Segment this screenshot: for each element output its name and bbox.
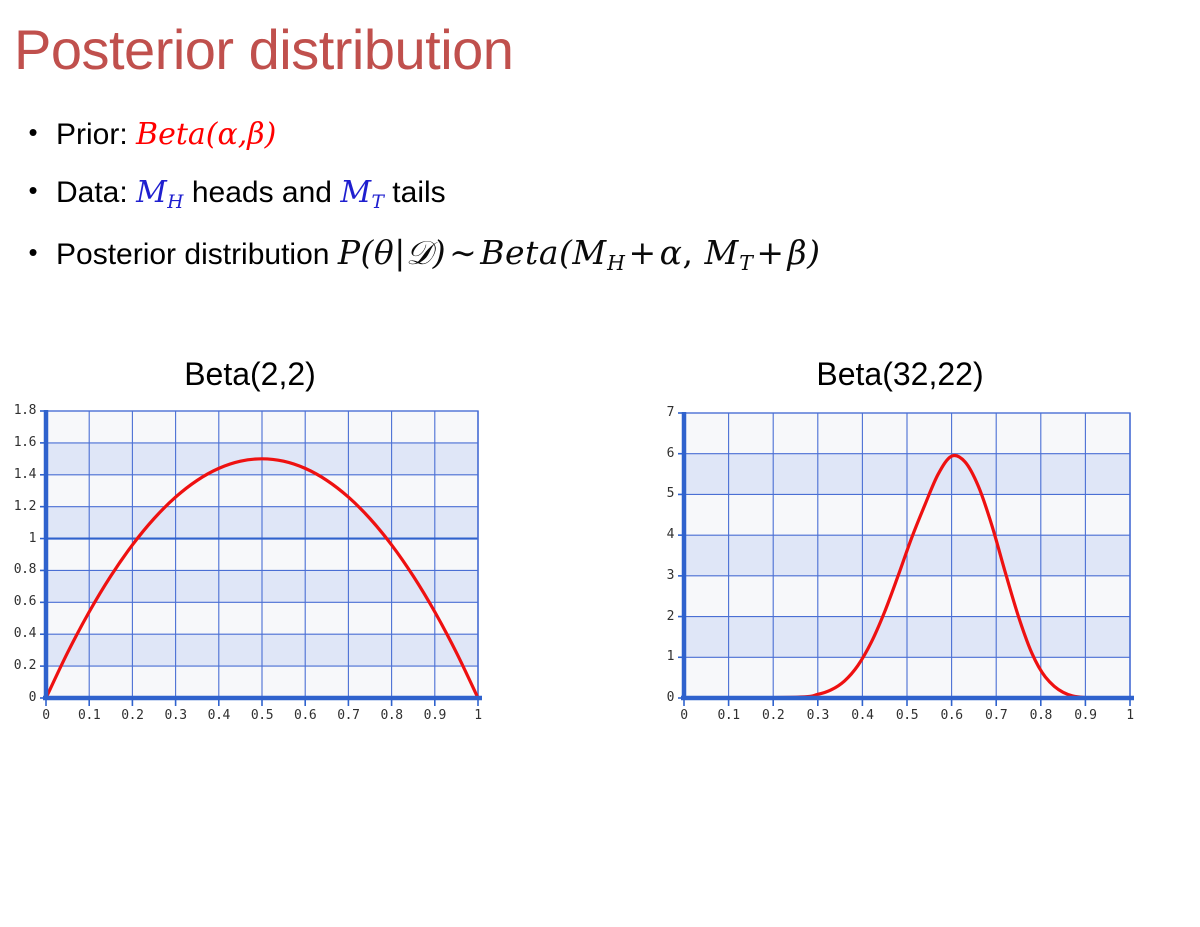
y-tick-label: 1.6 bbox=[0, 435, 36, 450]
y-tick-label: 0.4 bbox=[0, 626, 36, 641]
bullet-item-data: • Data: MH heads and MT tails bbox=[10, 176, 1190, 222]
formula-alpha: α bbox=[660, 233, 683, 272]
formula-close-paren-2: ) bbox=[807, 233, 820, 272]
formula-dataset-symbol: 𝒟 bbox=[406, 233, 433, 272]
x-tick-label: 0.2 bbox=[749, 708, 797, 723]
formula-comma: , bbox=[682, 233, 693, 272]
bullet-marker-icon: • bbox=[10, 177, 56, 203]
bullet-label-posterior: Posterior distribution bbox=[56, 238, 329, 271]
figure-beta-2-2: Beta(2,2) 00.20.40.60.811.21.41.61.8 00.… bbox=[0, 358, 520, 708]
x-tick-label: 1 bbox=[1106, 708, 1154, 723]
formula-theta: θ bbox=[374, 233, 394, 272]
y-tick-label: 0 bbox=[640, 690, 674, 705]
y-tick-label: 3 bbox=[640, 568, 674, 583]
bullet-text-posterior: Posterior distribution P(θ|𝒟)∼Beta(MH+α,… bbox=[56, 234, 821, 276]
x-tick-label: 0.6 bbox=[928, 708, 976, 723]
y-tick-label: 5 bbox=[640, 486, 674, 501]
bullet-text-data: Data: MH heads and MT tails bbox=[56, 176, 446, 213]
y-tick-label: 6 bbox=[640, 446, 674, 461]
y-tick-label: 1.2 bbox=[0, 499, 36, 514]
formula-beta-symbol: β bbox=[788, 233, 808, 272]
posterior-formula: P(θ|𝒟)∼Beta(MH+α, MT+β) bbox=[338, 233, 821, 272]
formula-given-bar: | bbox=[394, 233, 406, 272]
x-tick-label: 0.6 bbox=[281, 708, 329, 723]
formula-mt-subscript: T bbox=[739, 251, 754, 275]
data-mh-symbol: MH bbox=[136, 175, 183, 210]
x-tick-label: 0.7 bbox=[324, 708, 372, 723]
prior-beta: Beta( bbox=[136, 117, 217, 152]
data-mt-symbol: MT bbox=[340, 175, 384, 210]
bullet-text-prior: Prior: Beta(α,β) bbox=[56, 118, 276, 153]
formula-plus-1: + bbox=[626, 233, 660, 272]
bullet-item-posterior: • Posterior distribution P(θ|𝒟)∼Beta(MH+… bbox=[10, 234, 1190, 280]
x-tick-label: 0.3 bbox=[152, 708, 200, 723]
x-tick-label: 0.5 bbox=[238, 708, 286, 723]
formula-mh-subscript: H bbox=[607, 251, 626, 275]
data-mt-subscript: T bbox=[371, 192, 384, 213]
x-tick-label: 0.8 bbox=[368, 708, 416, 723]
prior-beta-symbol: β bbox=[247, 117, 264, 152]
data-mh-subscript: H bbox=[167, 192, 184, 213]
x-tick-label: 0.1 bbox=[705, 708, 753, 723]
bullet-marker-icon: • bbox=[10, 239, 56, 265]
prior-math: Beta(α,β) bbox=[136, 117, 276, 152]
page-title: Posterior distribution bbox=[14, 22, 513, 78]
chart-beta-2-2: 00.20.40.60.811.21.41.61.8 00.10.20.30.4… bbox=[0, 402, 520, 708]
chart-beta-32-22: 01234567 00.10.20.30.40.50.60.70.80.91 bbox=[640, 402, 1160, 708]
bullet-label-data: Data: bbox=[56, 176, 128, 209]
y-tick-label: 1.4 bbox=[0, 467, 36, 482]
y-tick-label: 0.6 bbox=[0, 594, 36, 609]
formula-mh: M bbox=[572, 233, 606, 272]
x-tick-label: 0.5 bbox=[883, 708, 931, 723]
y-tick-label: 2 bbox=[640, 609, 674, 624]
y-tick-label: 0.8 bbox=[0, 562, 36, 577]
figure-title-beta-2-2: Beta(2,2) bbox=[0, 358, 600, 390]
y-tick-label: 1.8 bbox=[0, 403, 36, 418]
formula-mt: M bbox=[704, 233, 738, 272]
y-tick-label: 0.2 bbox=[0, 658, 36, 673]
x-tick-label: 0.4 bbox=[195, 708, 243, 723]
x-tick-label: 0.7 bbox=[972, 708, 1020, 723]
figure-title-beta-32-22: Beta(32,22) bbox=[550, 358, 1200, 390]
x-tick-label: 0.9 bbox=[1061, 708, 1109, 723]
prior-comma: , bbox=[238, 117, 248, 152]
chart-svg-beta-2-2 bbox=[0, 402, 520, 708]
x-tick-label: 0 bbox=[660, 708, 708, 723]
data-mt-letter: M bbox=[340, 175, 371, 210]
x-tick-label: 0.8 bbox=[1017, 708, 1065, 723]
x-tick-label: 0 bbox=[22, 708, 70, 723]
x-tick-label: 0.3 bbox=[794, 708, 842, 723]
chart-svg-beta-32-22 bbox=[640, 402, 1160, 708]
y-tick-label: 7 bbox=[640, 405, 674, 420]
formula-p-open: P( bbox=[338, 233, 374, 272]
prior-close-paren: ) bbox=[265, 117, 277, 152]
x-tick-label: 0.2 bbox=[108, 708, 156, 723]
y-tick-label: 0 bbox=[0, 690, 36, 705]
prior-alpha: α bbox=[217, 117, 237, 152]
x-tick-label: 0.4 bbox=[838, 708, 886, 723]
formula-beta: Beta( bbox=[480, 233, 572, 272]
y-tick-label: 1 bbox=[640, 649, 674, 664]
formula-sim-operator: ∼ bbox=[446, 233, 480, 272]
x-tick-label: 1 bbox=[454, 708, 502, 723]
bullet-list: • Prior: Beta(α,β) • Data: MH heads and … bbox=[10, 118, 1190, 292]
bullet-marker-icon: • bbox=[10, 119, 56, 145]
data-tail-text: tails bbox=[392, 176, 445, 209]
formula-plus-2: + bbox=[753, 233, 787, 272]
formula-close-paren-1: ) bbox=[433, 233, 446, 272]
figure-beta-32-22: Beta(32,22) 01234567 00.10.20.30.40.50.6… bbox=[640, 358, 1160, 708]
data-mh-letter: M bbox=[136, 175, 167, 210]
data-middle-text: heads and bbox=[192, 176, 332, 209]
x-tick-label: 0.1 bbox=[65, 708, 113, 723]
x-tick-label: 0.9 bbox=[411, 708, 459, 723]
y-tick-label: 1 bbox=[0, 531, 36, 546]
bullet-label-prior: Prior: bbox=[56, 118, 128, 151]
y-tick-label: 4 bbox=[640, 527, 674, 542]
bullet-item-prior: • Prior: Beta(α,β) bbox=[10, 118, 1190, 164]
